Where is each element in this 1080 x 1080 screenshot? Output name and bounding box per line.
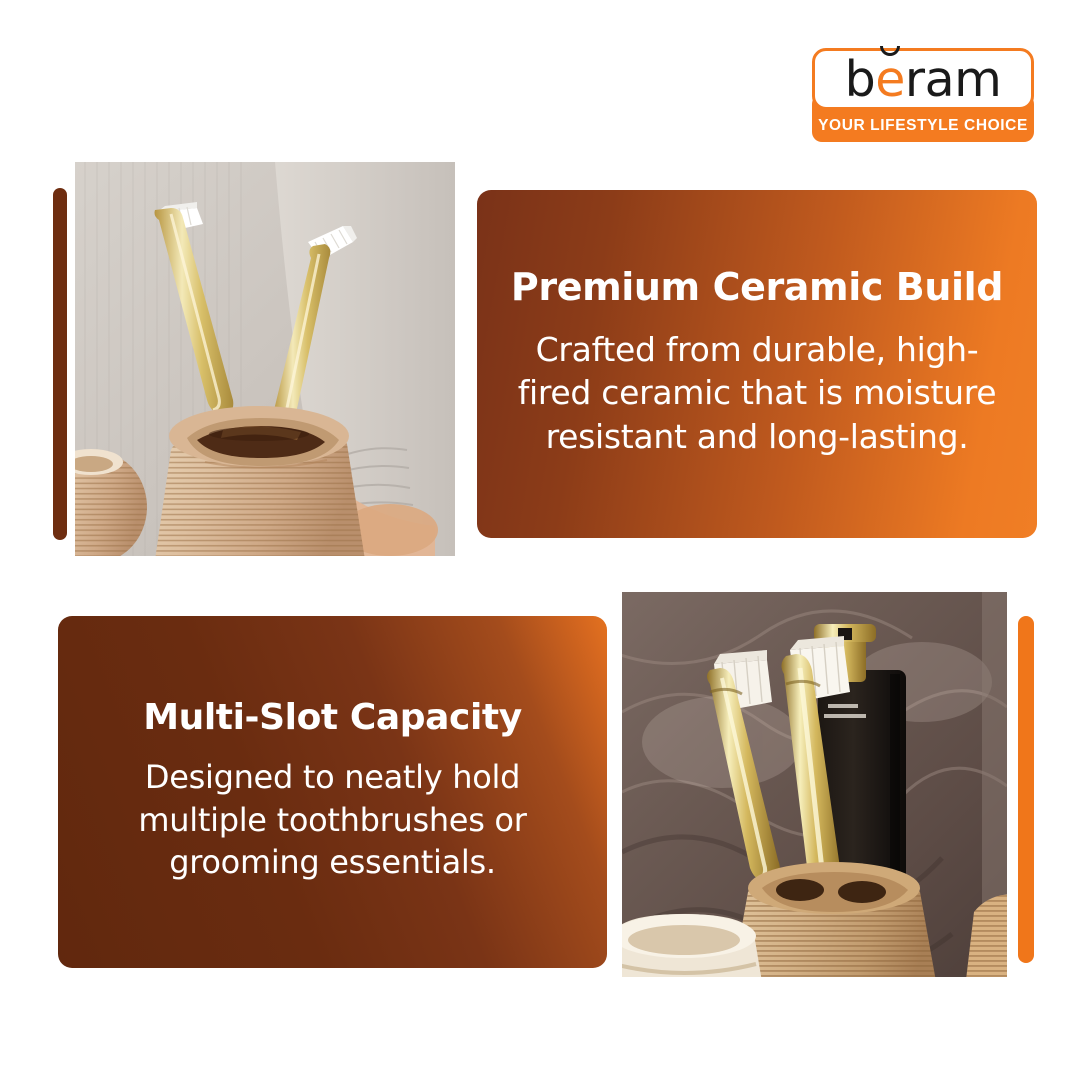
- feature-1-title: Premium Ceramic Build: [511, 266, 1003, 310]
- toothbrush-holder-on-counter-image: [622, 592, 1007, 977]
- accent-bar-feature-1: [53, 188, 67, 540]
- toothbrush-holder-in-hand-image: [75, 162, 455, 556]
- feature-2-body: Designed to neatly hold multiple toothbr…: [123, 756, 543, 883]
- logo-letters-ram: ram: [905, 55, 1001, 104]
- feature-2-photo: [622, 592, 1007, 977]
- feature-2-panel: Multi-Slot Capacity Designed to neatly h…: [58, 616, 607, 968]
- white-cup: [622, 914, 764, 977]
- logo-letter-e-glyph: e: [875, 51, 905, 108]
- feature-1-photo: [75, 162, 455, 556]
- logo-letter-e-accent: e: [875, 55, 905, 104]
- logo-wordmark: beram: [812, 48, 1034, 110]
- feature-1-panel: Premium Ceramic Build Crafted from durab…: [477, 190, 1037, 538]
- logo-tagline: YOUR LIFESTYLE CHOICE: [818, 117, 1028, 135]
- brand-logo: YOUR LIFESTYLE CHOICE beram: [812, 48, 1034, 144]
- feature-2-title: Multi-Slot Capacity: [143, 697, 522, 738]
- infographic-page: YOUR LIFESTYLE CHOICE beram: [0, 0, 1080, 1080]
- feature-1-body: Crafted from durable, high-fired ceramic…: [511, 328, 1003, 459]
- accent-bar-feature-2: [1018, 616, 1034, 963]
- logo-letter-b: b: [845, 55, 876, 104]
